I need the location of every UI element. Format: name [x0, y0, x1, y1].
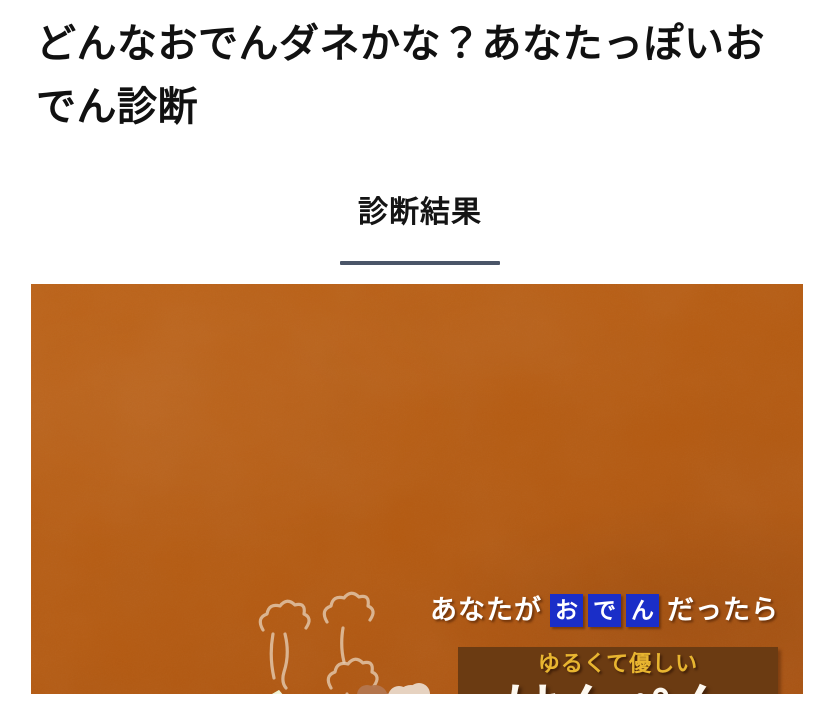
result-heading: 診断結果 [358, 196, 482, 229]
result-name-main: はんぺん [458, 675, 778, 694]
headline-prefix: あなたが [430, 597, 542, 624]
hanpen-on-plate-illustration [119, 682, 419, 694]
result-image-card: はんぺん あなたが お で ん だったら ゆるくて優しい はんぺん 末っ子的愛さ… [31, 284, 803, 694]
oden-letter-boxes: お で ん [550, 594, 659, 627]
result-heading-divider [340, 261, 500, 265]
oden-letter-box-3: ん [626, 594, 659, 627]
oden-letter-box-1: お [550, 594, 583, 627]
oden-letter-box-2: で [588, 594, 621, 627]
result-headline: あなたが お で ん だったら [430, 591, 779, 629]
result-name-panel: ゆるくて優しい はんぺん [458, 647, 778, 694]
headline-suffix: だったら [667, 597, 779, 624]
card-texture [31, 284, 803, 694]
page-title: どんなおでんダネかな？あなたっぽいおでん診断 [36, 13, 796, 139]
result-heading-container: 診断結果 [0, 196, 840, 229]
